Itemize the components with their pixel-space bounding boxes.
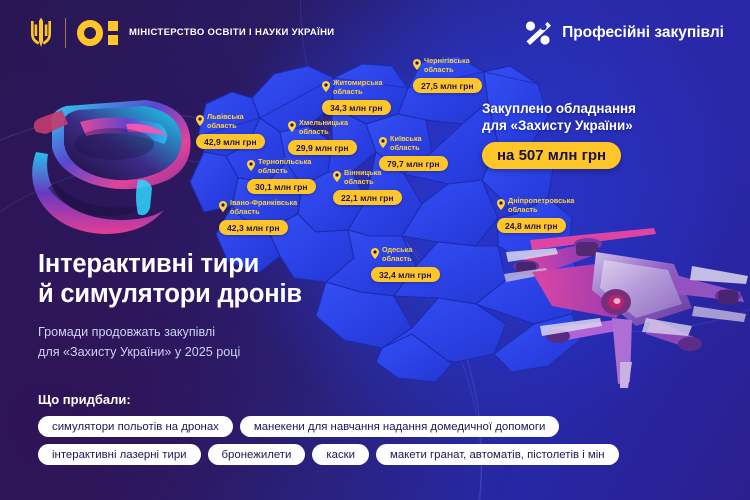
quadcopter-drone-illustration (496, 222, 750, 394)
region-pin[interactable]: Тернопільська область30,1 млн грн (247, 157, 316, 195)
region-name: Хмельницька область (299, 118, 348, 137)
region-name: Львівська область (207, 112, 244, 131)
region-amount: 42,9 млн грн (196, 134, 265, 149)
total-callout: Закуплено обладнання для «Захисту Україн… (482, 100, 682, 169)
region-name: Чернігівська область (424, 56, 470, 75)
region-amount: 24,8 млн грн (497, 218, 566, 233)
purchase-chip[interactable]: бронежилети (208, 444, 306, 465)
region-name: Тернопільська область (258, 157, 311, 176)
region-amount: 29,9 млн грн (288, 140, 357, 155)
region-name: Київська область (390, 134, 422, 153)
region-pin[interactable]: Вінницька область22,1 млн грн (333, 168, 402, 206)
map-pin-icon (322, 79, 330, 97)
purchase-chip[interactable]: каски (312, 444, 369, 465)
purchase-chip[interactable]: інтерактивні лазерні тири (38, 444, 201, 465)
region-amount: 42,3 млн грн (219, 220, 288, 235)
purchases-label: Що придбали: (38, 392, 732, 407)
map-pin-icon (219, 199, 227, 217)
headline-block: Інтерактивні тири й симулятори дронів Гр… (38, 250, 368, 362)
ministry-title: МІНІСТЕРСТВО ОСВІТИ І НАУКИ УКРАЇНИ (129, 27, 334, 40)
region-amount: 27,5 млн грн (413, 78, 482, 93)
callout-total-badge: на 507 млн грн (482, 142, 621, 169)
region-pin[interactable]: Одеська область32,4 млн грн (371, 245, 440, 283)
purchase-chip[interactable]: макети гранат, автоматів, пістолетів і м… (376, 444, 619, 465)
colon-squares-icon (108, 21, 118, 45)
region-pin[interactable]: Львівська область42,9 млн грн (196, 112, 265, 150)
map-pin-icon (333, 169, 341, 187)
map-pin-icon (379, 135, 387, 153)
map-pin-icon (288, 119, 296, 137)
region-amount: 32,4 млн грн (371, 267, 440, 282)
page-subtitle: Громади продовжать закупівлі для «Захист… (38, 323, 368, 362)
purchase-chip[interactable]: симулятори польотів на дронах (38, 416, 233, 437)
map-pin-icon (413, 57, 421, 75)
region-pin[interactable]: Житомирська область34,3 млн грн (322, 78, 391, 116)
region-pin[interactable]: Дніпропетровська область24,8 млн грн (497, 196, 574, 234)
ukraine-trident-emblem-icon (28, 16, 54, 50)
purchases-section: Що придбали: симулятори польотів на дрон… (38, 392, 732, 472)
region-pin[interactable]: Київська область79,7 млн грн (379, 134, 448, 172)
map-pin-icon (371, 246, 379, 264)
region-pin[interactable]: Чернігівська область27,5 млн грн (413, 56, 482, 94)
region-name: Вінницька область (344, 168, 381, 187)
region-amount: 22,1 млн грн (333, 190, 402, 205)
region-amount: 34,3 млн грн (322, 100, 391, 115)
region-name: Одеська область (382, 245, 412, 264)
callout-text: Закуплено обладнання для «Захисту Україн… (482, 100, 682, 134)
map-pin-icon (196, 113, 204, 131)
mon-logo-mark (77, 20, 118, 46)
infographic-canvas: МІНІСТЕРСТВО ОСВІТИ І НАУКИ УКРАЇНИ Проф… (0, 0, 750, 500)
region-name: Івано-Франківська область (230, 198, 297, 217)
logo-divider (65, 18, 66, 48)
circle-o-icon (77, 20, 103, 46)
region-name: Житомирська область (333, 78, 383, 97)
purchase-chip[interactable]: манекени для навчання надання домедичної… (240, 416, 560, 437)
page-title: Інтерактивні тири й симулятори дронів (38, 250, 368, 309)
purchases-chip-list: симулятори польотів на дронахманекени дл… (38, 416, 732, 465)
region-pin[interactable]: Івано-Франківська область42,3 млн грн (219, 198, 297, 236)
chip-row: симулятори польотів на дронахманекени дл… (38, 416, 732, 437)
map-pin-icon (247, 158, 255, 176)
region-name: Дніпропетровська область (508, 196, 574, 215)
region-amount: 30,1 млн грн (247, 179, 316, 194)
chip-row: інтерактивні лазерні тирибронежилетикаск… (38, 444, 732, 465)
map-pin-icon (497, 197, 505, 215)
region-pin[interactable]: Хмельницька область29,9 млн грн (288, 118, 357, 156)
